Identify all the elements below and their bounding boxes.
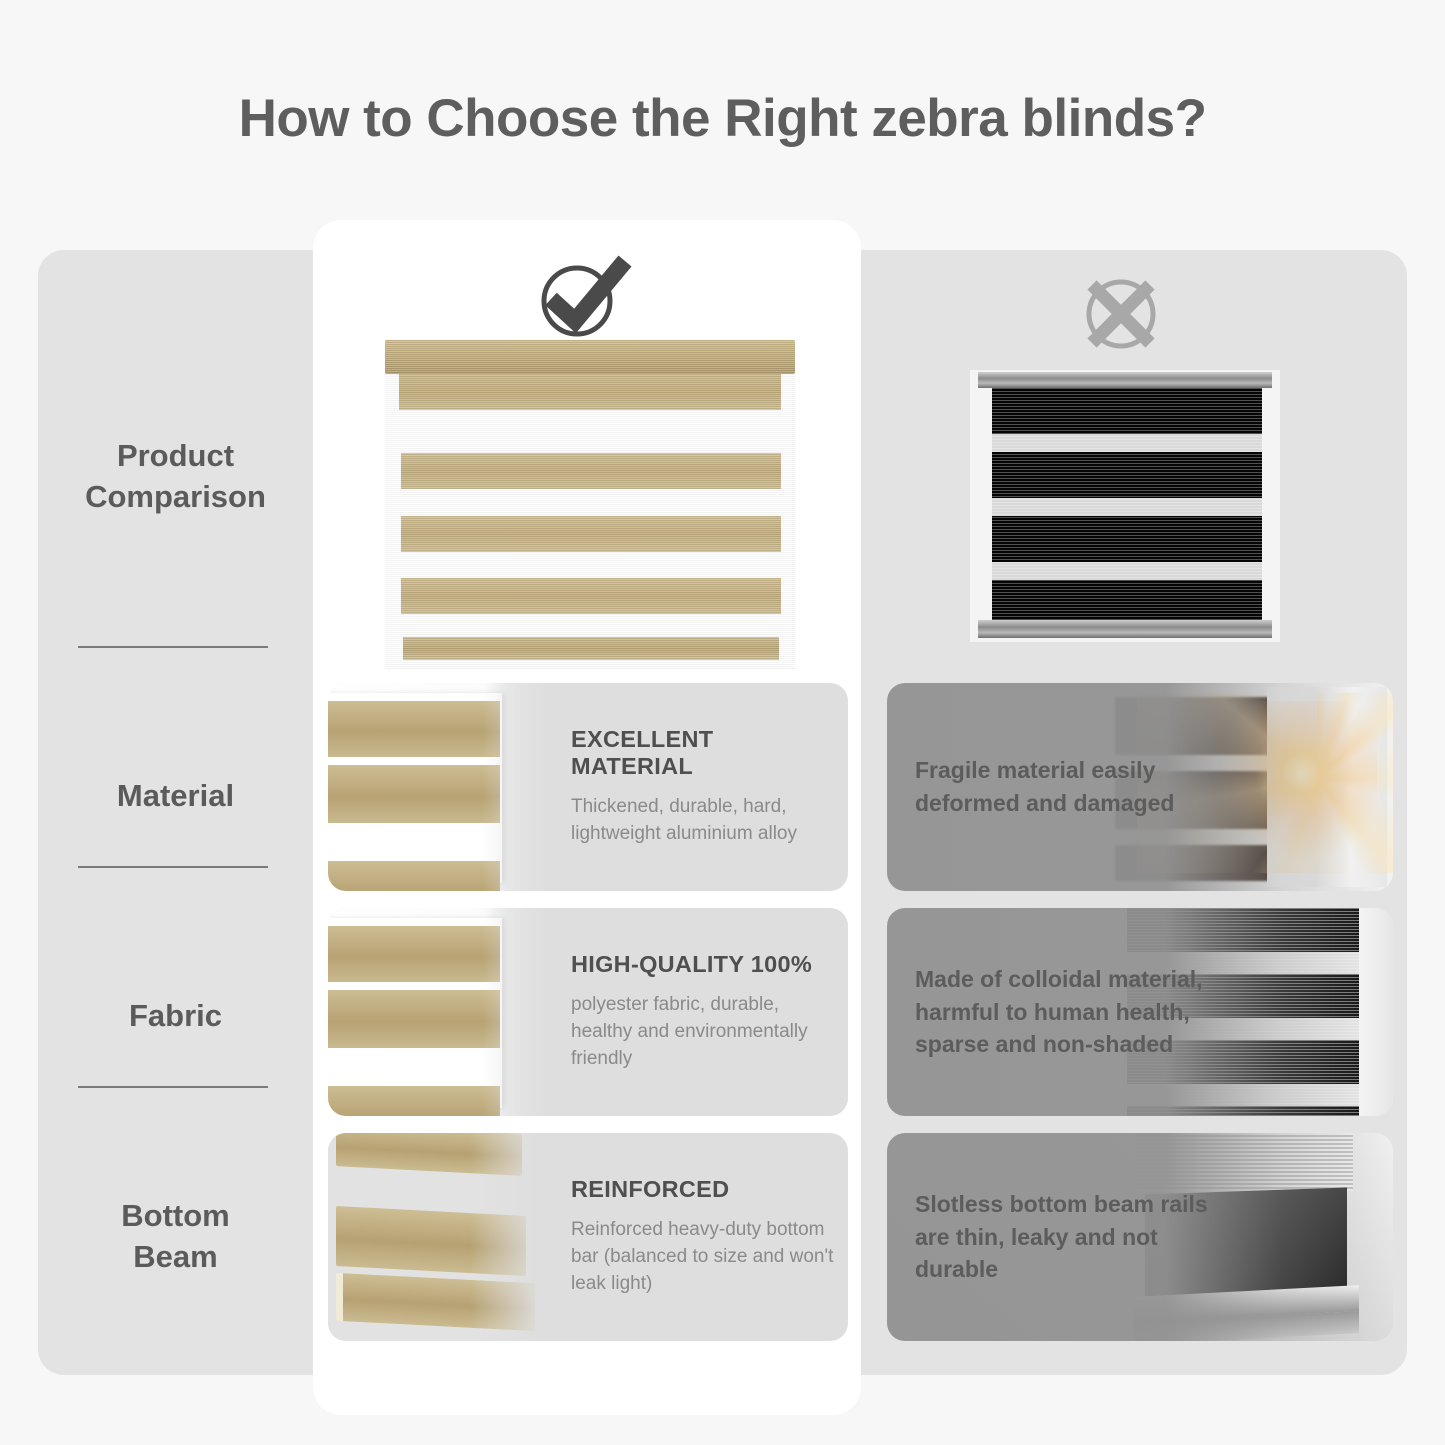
blind-headrail — [385, 340, 795, 374]
good-material-heading: EXCELLENT MATERIAL — [571, 726, 834, 780]
row-label-line2: Comparison — [85, 479, 266, 514]
row-label-line1: Material — [117, 778, 234, 813]
row-label-product-comparison: Product Comparison — [38, 435, 313, 517]
good-bottom-beam-heading: REINFORCED — [571, 1176, 834, 1203]
good-material-body: Thickened, durable, hard, lightweight al… — [571, 794, 834, 848]
good-fabric-photo — [328, 908, 560, 1116]
blind-headrail — [978, 372, 1272, 388]
row-label-line1: Bottom — [121, 1198, 229, 1233]
blind-valance — [399, 374, 781, 410]
blind-mesh-overlay — [992, 388, 1262, 620]
row-label-line2: Beam — [133, 1239, 217, 1274]
row-label-column: Product Comparison Material Fabric Botto… — [38, 250, 313, 1375]
bad-feature-card-material: Fragile material easily deformed and dam… — [887, 683, 1393, 891]
row-divider-3 — [78, 1086, 268, 1088]
row-label-material: Material — [38, 775, 313, 816]
bad-material-text: Fragile material easily deformed and dam… — [915, 754, 1215, 819]
good-feature-card-bottom-beam: REINFORCED Reinforced heavy-duty bottom … — [328, 1133, 848, 1341]
bad-feature-card-fabric: Made of colloidal material, harmful to h… — [887, 908, 1393, 1116]
row-label-bottom-beam: Bottom Beam — [38, 1195, 313, 1277]
blind-slat — [401, 578, 781, 614]
check-circle-icon — [533, 255, 633, 340]
good-fabric-body: polyester fabric, durable, healthy and e… — [571, 992, 834, 1073]
row-divider-2 — [78, 866, 268, 868]
good-bottom-beam-body: Reinforced heavy-duty bottom bar (balanc… — [571, 1217, 834, 1298]
blind-slat — [401, 516, 781, 552]
bad-feature-card-bottom-beam: Slotless bottom beam rails are thin, lea… — [887, 1133, 1393, 1341]
good-material-photo — [328, 683, 560, 891]
blind-bottom-rail — [978, 620, 1272, 638]
good-feature-card-fabric: HIGH-QUALITY 100% polyester fabric, dura… — [328, 908, 848, 1116]
blind-slat — [401, 453, 781, 489]
row-divider-1 — [78, 646, 268, 648]
bad-fabric-text: Made of colloidal material, harmful to h… — [915, 963, 1215, 1061]
bad-bottom-beam-text: Slotless bottom beam rails are thin, lea… — [915, 1188, 1215, 1286]
not-recommended-product-image — [970, 370, 1280, 642]
page-title: How to Choose the Right zebra blinds? — [0, 88, 1445, 149]
blind-fabric — [992, 388, 1262, 620]
blind-bottom-bar — [403, 637, 779, 660]
cross-circle-icon — [1076, 272, 1166, 354]
row-label-line1: Fabric — [129, 998, 222, 1033]
row-label-line1: Product — [117, 438, 234, 473]
recommended-product-image — [385, 340, 795, 670]
good-fabric-heading: HIGH-QUALITY 100% — [571, 951, 834, 978]
good-feature-card-material: EXCELLENT MATERIAL Thickened, durable, h… — [328, 683, 848, 891]
row-label-fabric: Fabric — [38, 995, 313, 1036]
good-bottom-beam-photo — [328, 1133, 560, 1341]
